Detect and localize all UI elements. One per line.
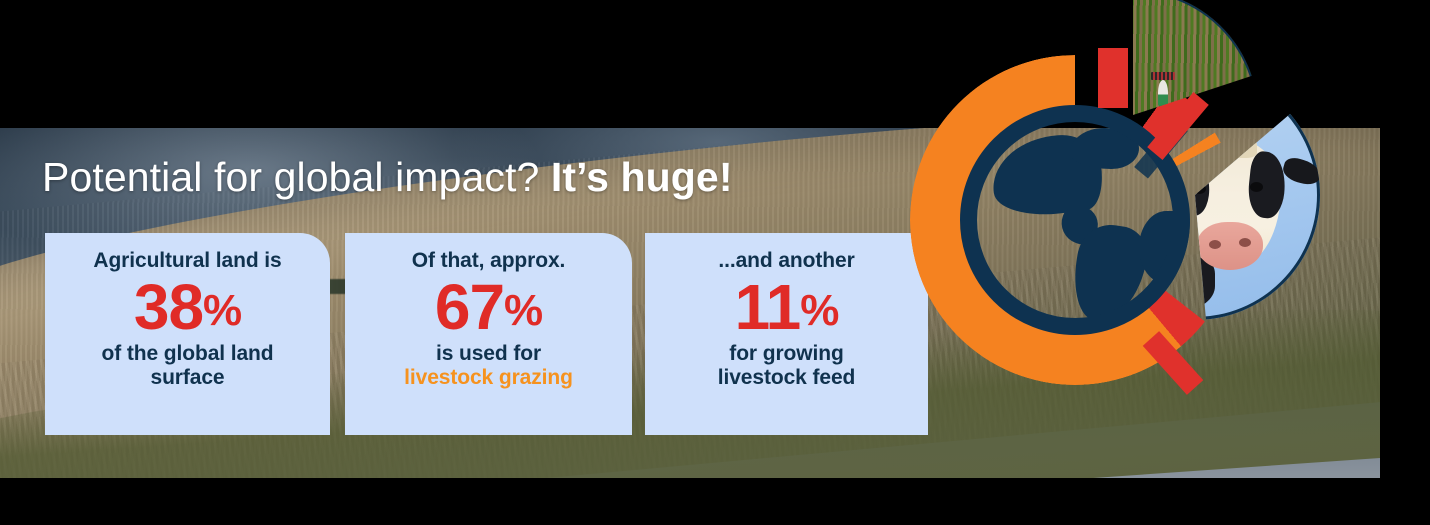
- cow-nostril-left: [1209, 240, 1221, 249]
- stat-card-percent: 67%: [345, 275, 632, 340]
- stat-card-subline-2: livestock grazing: [345, 366, 632, 390]
- page-title: Potential for global impact? It’s huge!: [42, 157, 733, 198]
- stat-card-percent-symbol: %: [800, 286, 838, 335]
- stat-card-caption: Of that, approx.: [345, 249, 632, 273]
- sprinkler-icon: [1158, 80, 1168, 106]
- cow-muzzle: [1197, 222, 1263, 270]
- stat-card-percent-value: 67: [435, 271, 504, 343]
- cow-ear-right: [1281, 155, 1320, 188]
- stat-card-caption: ...and another: [645, 249, 928, 273]
- stat-card-livestock-feed[interactable]: ...and another 11% for growing livestock…: [645, 233, 928, 435]
- stat-card-percent-symbol: %: [203, 286, 241, 335]
- stat-card-percent-symbol: %: [504, 286, 542, 335]
- stat-card-subline-2: livestock feed: [645, 366, 928, 390]
- stat-card-subline-1: of the global land: [45, 342, 330, 366]
- stat-card-subline-1: is used for: [345, 342, 632, 366]
- page-title-part-1: Potential for global impact?: [42, 154, 539, 200]
- stat-card-subline-2: surface: [45, 366, 330, 390]
- stat-card-percent-value: 38: [134, 271, 203, 343]
- stat-card-percent: 11%: [645, 275, 928, 340]
- globe-donut-graphic: [900, 0, 1360, 450]
- stat-card-percent: 38%: [45, 275, 330, 340]
- cow-nostril-right: [1239, 238, 1251, 247]
- stat-card-caption: Agricultural land is: [45, 249, 330, 273]
- page-title-part-2: It’s huge!: [551, 154, 733, 200]
- stat-card-subline-1: for growing: [645, 342, 928, 366]
- stat-card-agricultural-land[interactable]: Agricultural land is 38% of the global l…: [45, 233, 330, 435]
- stat-card-livestock-grazing[interactable]: Of that, approx. 67% is used for livesto…: [345, 233, 632, 435]
- stat-card-percent-value: 11: [735, 271, 801, 343]
- cow-eye-right: [1250, 182, 1263, 192]
- slide-canvas: Potential for global impact? It’s huge! …: [0, 0, 1430, 525]
- red-marker-top-icon: [1098, 48, 1128, 108]
